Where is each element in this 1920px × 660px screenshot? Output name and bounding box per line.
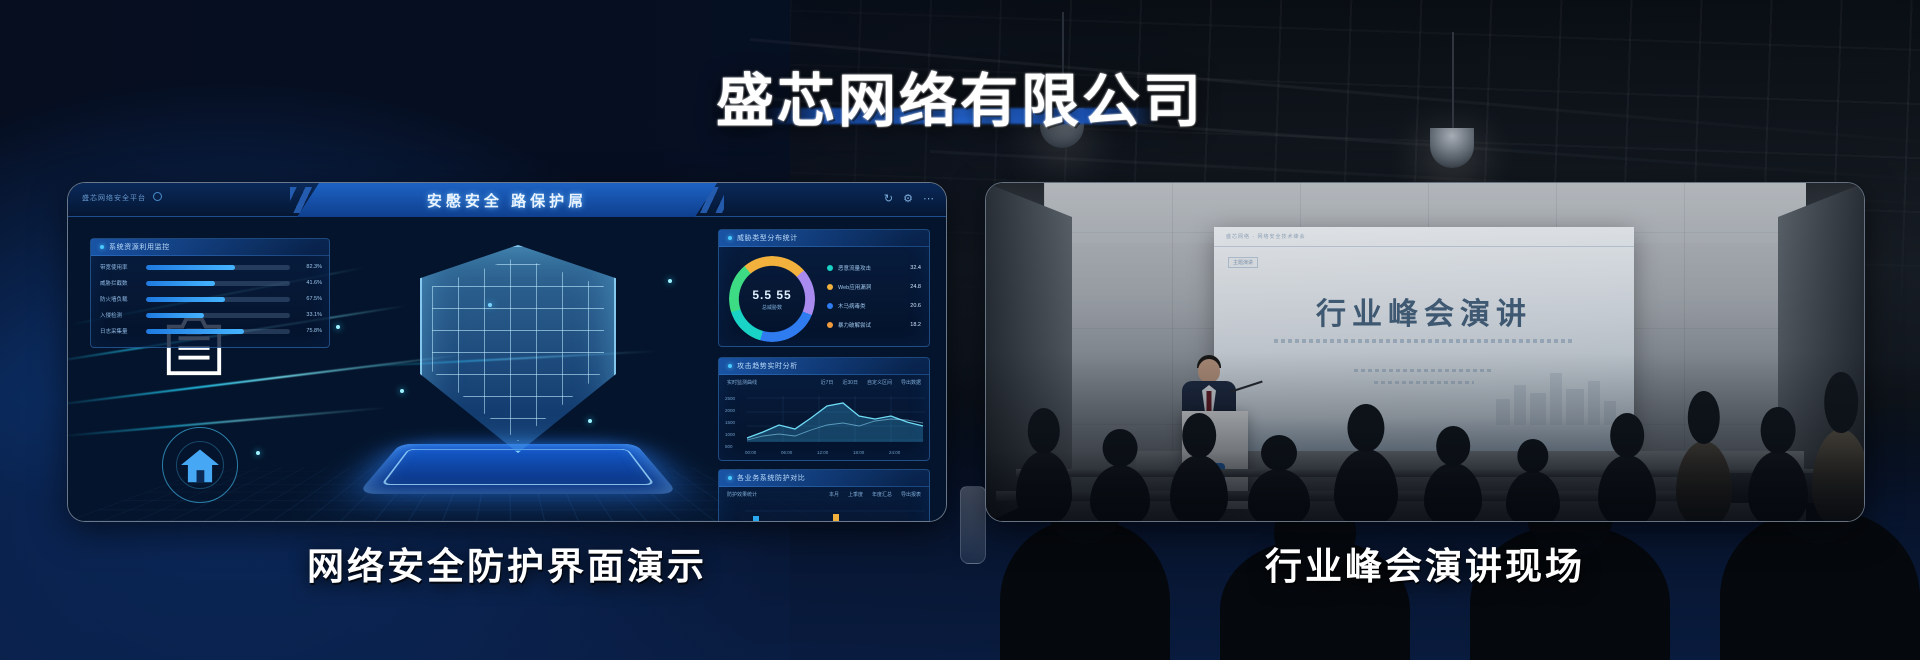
legend-value: 32.4 [910, 265, 921, 271]
dashboard-topbar: 盛芯网络安全平台 安慇安全 路保护屌 ↻ ⚙ ⋯ [68, 183, 946, 217]
donut-center-value: 5.5 55 [752, 288, 791, 302]
shield-visual-group [368, 235, 668, 522]
glow-dot [668, 279, 672, 283]
legend-swatch-icon [827, 284, 833, 290]
stat-label: 入侵检测 [100, 311, 140, 319]
panel-threat-distribution[interactable]: 威胁类型分布统计 5.5 55 总威胁数 恶意流量攻击 32.4 [718, 229, 930, 347]
bar-chart-svg [719, 503, 931, 522]
caption-cyber-dashboard: 网络安全防护界面演示 [67, 536, 947, 590]
x-tick: 12:00 [817, 450, 828, 455]
glow-dot [256, 451, 260, 455]
toolbar-label: 实时监测曲线 [727, 379, 757, 386]
dashboard-canvas: 盛芯网络安全平台 安慇安全 路保护屌 ↻ ⚙ ⋯ [68, 183, 946, 521]
logo-mark-icon [153, 192, 162, 201]
y-tick: 1500 [725, 420, 735, 425]
panel-title: 攻击趋势实时分析 [737, 361, 798, 371]
refresh-icon[interactable]: ↻ [884, 192, 893, 205]
bar-chart-toolbar[interactable]: 防护效果统计 本月 上季度 年度汇总 导出报表 [719, 487, 929, 498]
toolbar-range-7d[interactable]: 近7日 [821, 379, 834, 386]
legend-label: 木马病毒类 [838, 302, 905, 310]
panel-system-stats[interactable]: 系统资源利用监控 带宽使用率 82.3% 威胁拦截数 41.6% [90, 238, 330, 348]
legend-label: Web应用漏洞 [838, 283, 905, 291]
legend-swatch-icon [827, 322, 833, 328]
legend-item: 暴力破解尝试 18.2 [827, 315, 921, 334]
shield-icon [420, 245, 616, 453]
legend-swatch-icon [827, 303, 833, 309]
y-tick: 2500 [725, 396, 735, 401]
x-tick: 24:00 [889, 450, 900, 455]
dashboard-logo: 盛芯网络安全平台 [82, 192, 162, 203]
legend-value: 20.6 [910, 303, 921, 309]
photo-shadow-overlay [986, 183, 1864, 521]
stat-value: 75.8% [296, 328, 322, 334]
card-summit-speech[interactable]: 盛芯网络 · 网络安全技术峰会 主题演讲 行业峰会演讲 [985, 182, 1865, 522]
toolbar-export[interactable]: 导出数据 [901, 379, 921, 386]
panel-title: 各业务系统防护对比 [737, 473, 805, 483]
stat-row: 防火墙负载 67.5% [91, 291, 329, 307]
donut-chart: 5.5 55 总威胁数 [729, 256, 815, 342]
legend-label: 暴力破解尝试 [838, 321, 905, 329]
stat-label: 带宽使用率 [100, 263, 140, 271]
toolbar-range-custom[interactable]: 自定义区间 [867, 379, 892, 386]
legend-item: 恶意流量攻击 32.4 [827, 258, 921, 277]
x-tick: 00:00 [745, 450, 756, 455]
legend-item: 木马病毒类 20.6 [827, 296, 921, 315]
legend-swatch-icon [827, 265, 833, 271]
x-tick: 18:00 [853, 450, 864, 455]
stat-bar [146, 329, 290, 334]
panel-attack-trend[interactable]: 攻击趋势实时分析 实时监测曲线 近7日 近30日 自定义区间 导出数据 [718, 357, 930, 461]
legend-item: Web应用漏洞 24.8 [827, 277, 921, 296]
stat-bar [146, 281, 290, 286]
stat-row: 入侵检测 33.1% [91, 307, 329, 323]
stat-row: 带宽使用率 82.3% [91, 259, 329, 275]
donut-legend: 恶意流量攻击 32.4 Web应用漏洞 24.8 木马病毒类 20.6 [827, 258, 921, 334]
stat-value: 41.6% [296, 280, 322, 286]
stat-row: 日志采集量 75.8% [91, 323, 329, 339]
stat-bar [146, 313, 290, 318]
dashboard-logo-text: 盛芯网络安全平台 [82, 195, 146, 202]
panel-header: 攻击趋势实时分析 [719, 358, 929, 375]
banner-stage: 盛芯网络有限公司 [0, 0, 1920, 660]
dashboard-toolbar[interactable]: ↻ ⚙ ⋯ [884, 192, 934, 205]
panel-title: 威胁类型分布统计 [737, 233, 798, 243]
line-chart-toolbar[interactable]: 实时监测曲线 近7日 近30日 自定义区间 导出数据 [719, 375, 929, 386]
toolbar-range-month[interactable]: 本月 [829, 491, 839, 498]
x-tick: 06:00 [781, 450, 792, 455]
stat-bar [146, 297, 290, 302]
donut-center: 5.5 55 总威胁数 [729, 256, 815, 342]
stat-label: 防火墙负载 [100, 295, 140, 303]
conference-photo: 盛芯网络 · 网络安全技术峰会 主题演讲 行业峰会演讲 [986, 183, 1864, 521]
stat-value: 82.3% [296, 264, 322, 270]
title-underline-accent [764, 108, 1156, 124]
panel-bullet-icon [728, 364, 732, 368]
y-tick: 2000 [725, 408, 735, 413]
legend-value: 24.8 [910, 284, 921, 290]
toolbar-range-year[interactable]: 年度汇总 [872, 491, 892, 498]
stat-value: 33.1% [296, 312, 322, 318]
caption-summit-speech: 行业峰会演讲现场 [985, 536, 1865, 590]
stat-label: 日志采集量 [100, 327, 140, 335]
caption-row: 网络安全防护界面演示 行业峰会演讲现场 [0, 536, 1920, 598]
settings-icon[interactable]: ⚙ [903, 192, 913, 205]
panel-bullet-icon [100, 245, 104, 249]
legend-label: 恶意流量攻击 [838, 264, 905, 272]
glow-dot [336, 325, 340, 329]
stat-row: 威胁拦截数 41.6% [91, 275, 329, 291]
panel-header: 各业务系统防护对比 [719, 470, 929, 487]
panel-bullet-icon [728, 236, 732, 240]
panel-title: 系统资源利用监控 [109, 242, 170, 252]
y-tick: 1000 [725, 432, 735, 437]
legend-value: 18.2 [910, 322, 921, 328]
stats-rows: 带宽使用率 82.3% 威胁拦截数 41.6% 防火墙负载 67. [91, 256, 329, 339]
toolbar-range-quarter[interactable]: 上季度 [848, 491, 863, 498]
y-tick: 500 [725, 444, 733, 449]
stat-value: 67.5% [296, 296, 322, 302]
toolbar-export[interactable]: 导出报表 [901, 491, 921, 498]
stat-bar [146, 265, 290, 270]
home-icon [156, 421, 244, 509]
dashboard-banner-title: 安慇安全 路保护屌 [427, 190, 587, 211]
card-cyber-dashboard[interactable]: 盛芯网络安全平台 安慇安全 路保护屌 ↻ ⚙ ⋯ [67, 182, 947, 522]
image-card-row: 盛芯网络安全平台 安慇安全 路保护屌 ↻ ⚙ ⋯ [0, 182, 1920, 522]
toolbar-range-30d[interactable]: 近30日 [842, 379, 858, 386]
dashboard-banner: 安慇安全 路保护屌 [297, 183, 717, 217]
home-ring-inner [176, 441, 224, 489]
donut-center-label: 总威胁数 [762, 304, 782, 311]
panel-header: 威胁类型分布统计 [719, 230, 929, 247]
panel-bullet-icon [728, 476, 732, 480]
line-chart-svg [719, 392, 931, 456]
more-icon[interactable]: ⋯ [923, 192, 934, 205]
panel-header: 系统资源利用监控 [91, 239, 329, 256]
toolbar-label: 防护效果统计 [727, 491, 757, 498]
panel-protection-compare[interactable]: 各业务系统防护对比 防护效果统计 本月 上季度 年度汇总 导出报表 [718, 469, 930, 522]
stat-label: 威胁拦截数 [100, 279, 140, 287]
